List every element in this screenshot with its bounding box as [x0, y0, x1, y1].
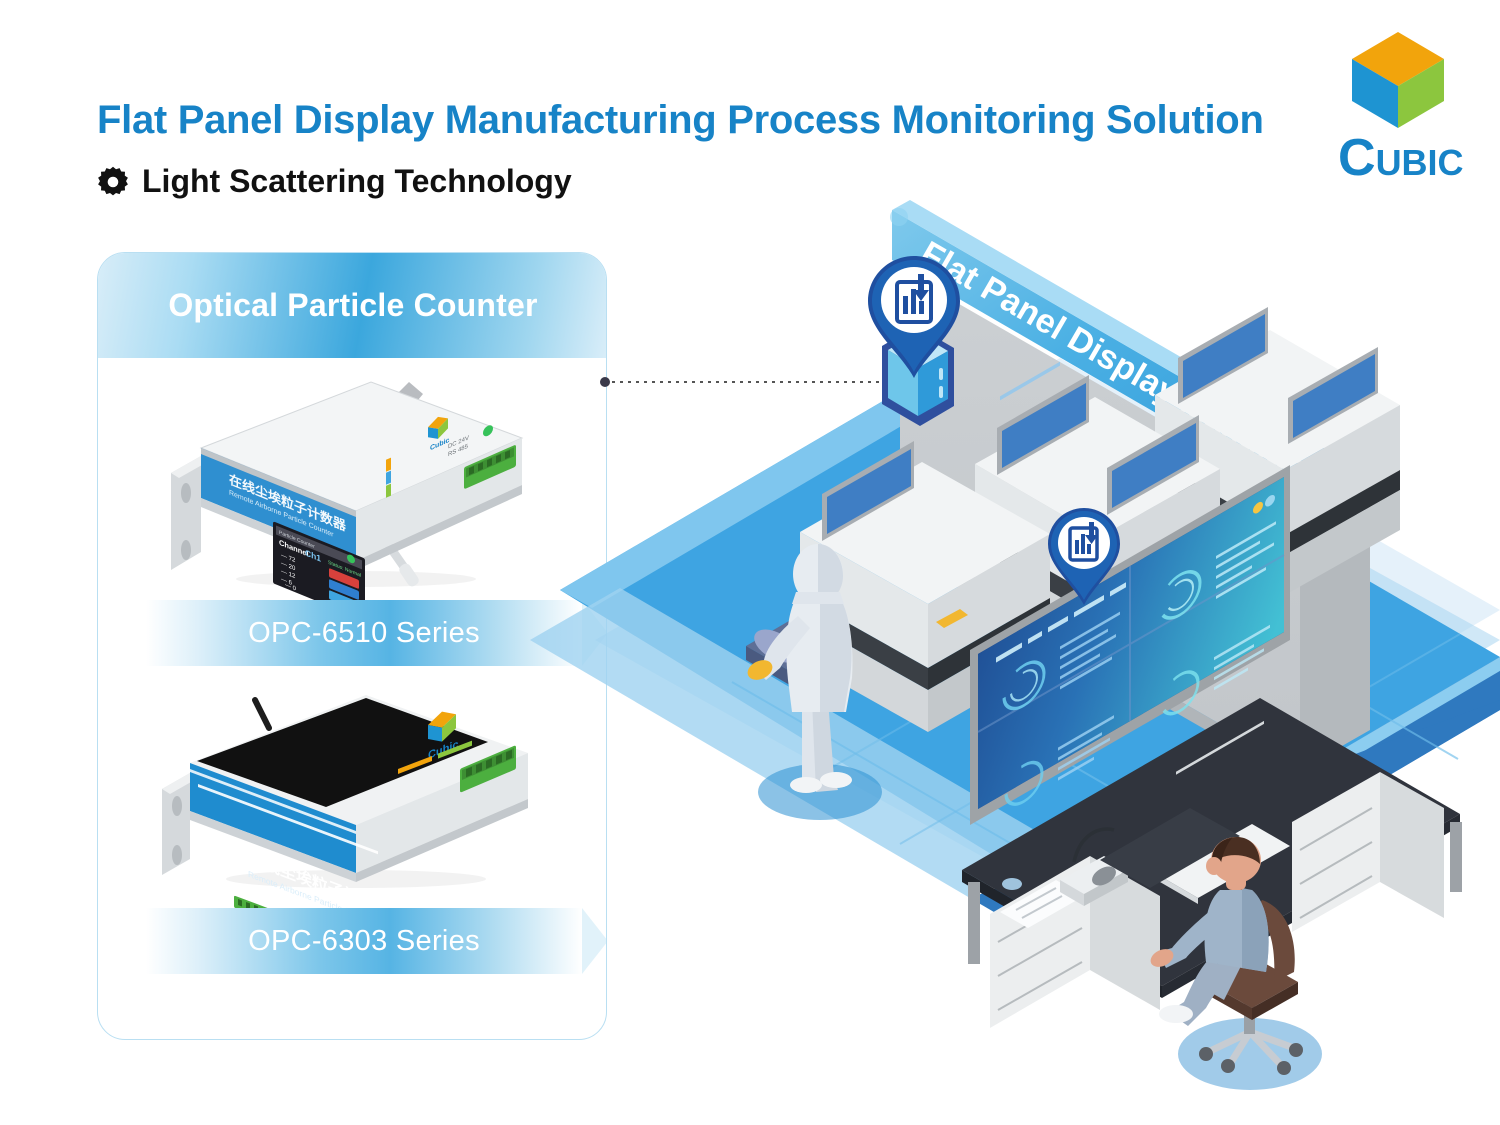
page-title: Flat Panel Display Manufacturing Process…: [97, 98, 1264, 143]
cubic-logo: CUBIC: [1334, 28, 1484, 178]
card-header-title: Optical Particle Counter: [168, 287, 537, 324]
product-label-text: OPC-6510 Series: [248, 617, 480, 650]
product-label-text: OPC-6303 Series: [248, 925, 480, 958]
isometric-scene: Flat Panel Display Manufacturing: [500, 170, 1500, 1110]
cube-icon: [1346, 28, 1450, 132]
gear-icon: [97, 166, 129, 198]
infographic-page: Flat Panel Display Manufacturing Process…: [0, 0, 1500, 1125]
